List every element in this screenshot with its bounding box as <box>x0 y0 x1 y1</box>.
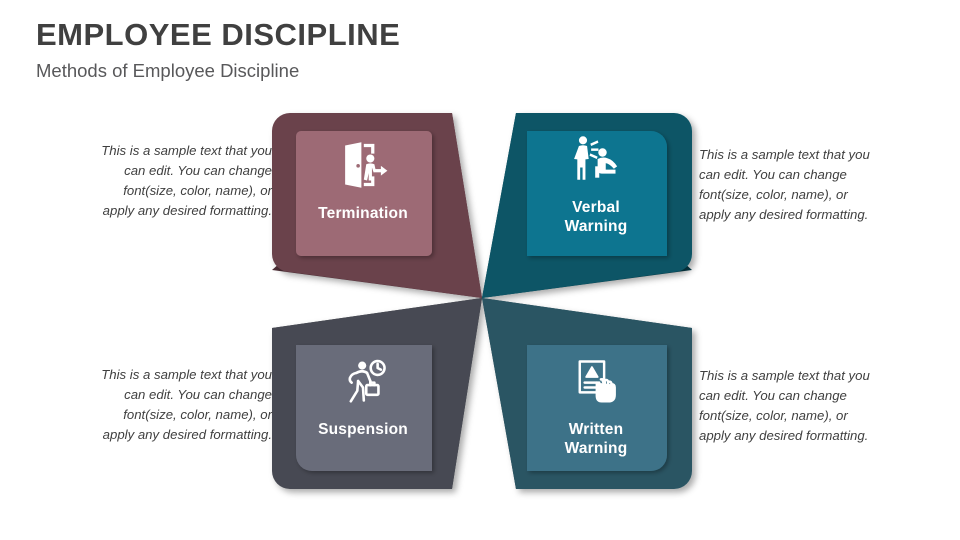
suspension-inner-panel <box>296 345 432 471</box>
quadrant-verbal-warning[interactable] <box>482 113 692 298</box>
written-inner-panel <box>527 345 667 471</box>
verbal-inner-panel <box>527 131 667 256</box>
suspension-description: This is a sample text that you can edit.… <box>92 365 272 445</box>
discipline-methods-diagram: Termination Verbal Warning <box>0 0 960 540</box>
termination-inner-panel <box>296 131 432 256</box>
quadrant-termination[interactable] <box>272 113 482 298</box>
verbal-warning-description: This is a sample text that you can edit.… <box>699 145 874 225</box>
written-warning-description: This is a sample text that you can edit.… <box>699 366 874 446</box>
quadrant-shapes <box>0 0 960 540</box>
quadrant-suspension[interactable] <box>272 298 482 489</box>
termination-description: This is a sample text that you can edit.… <box>92 141 272 221</box>
quadrant-written-warning[interactable] <box>482 298 692 489</box>
